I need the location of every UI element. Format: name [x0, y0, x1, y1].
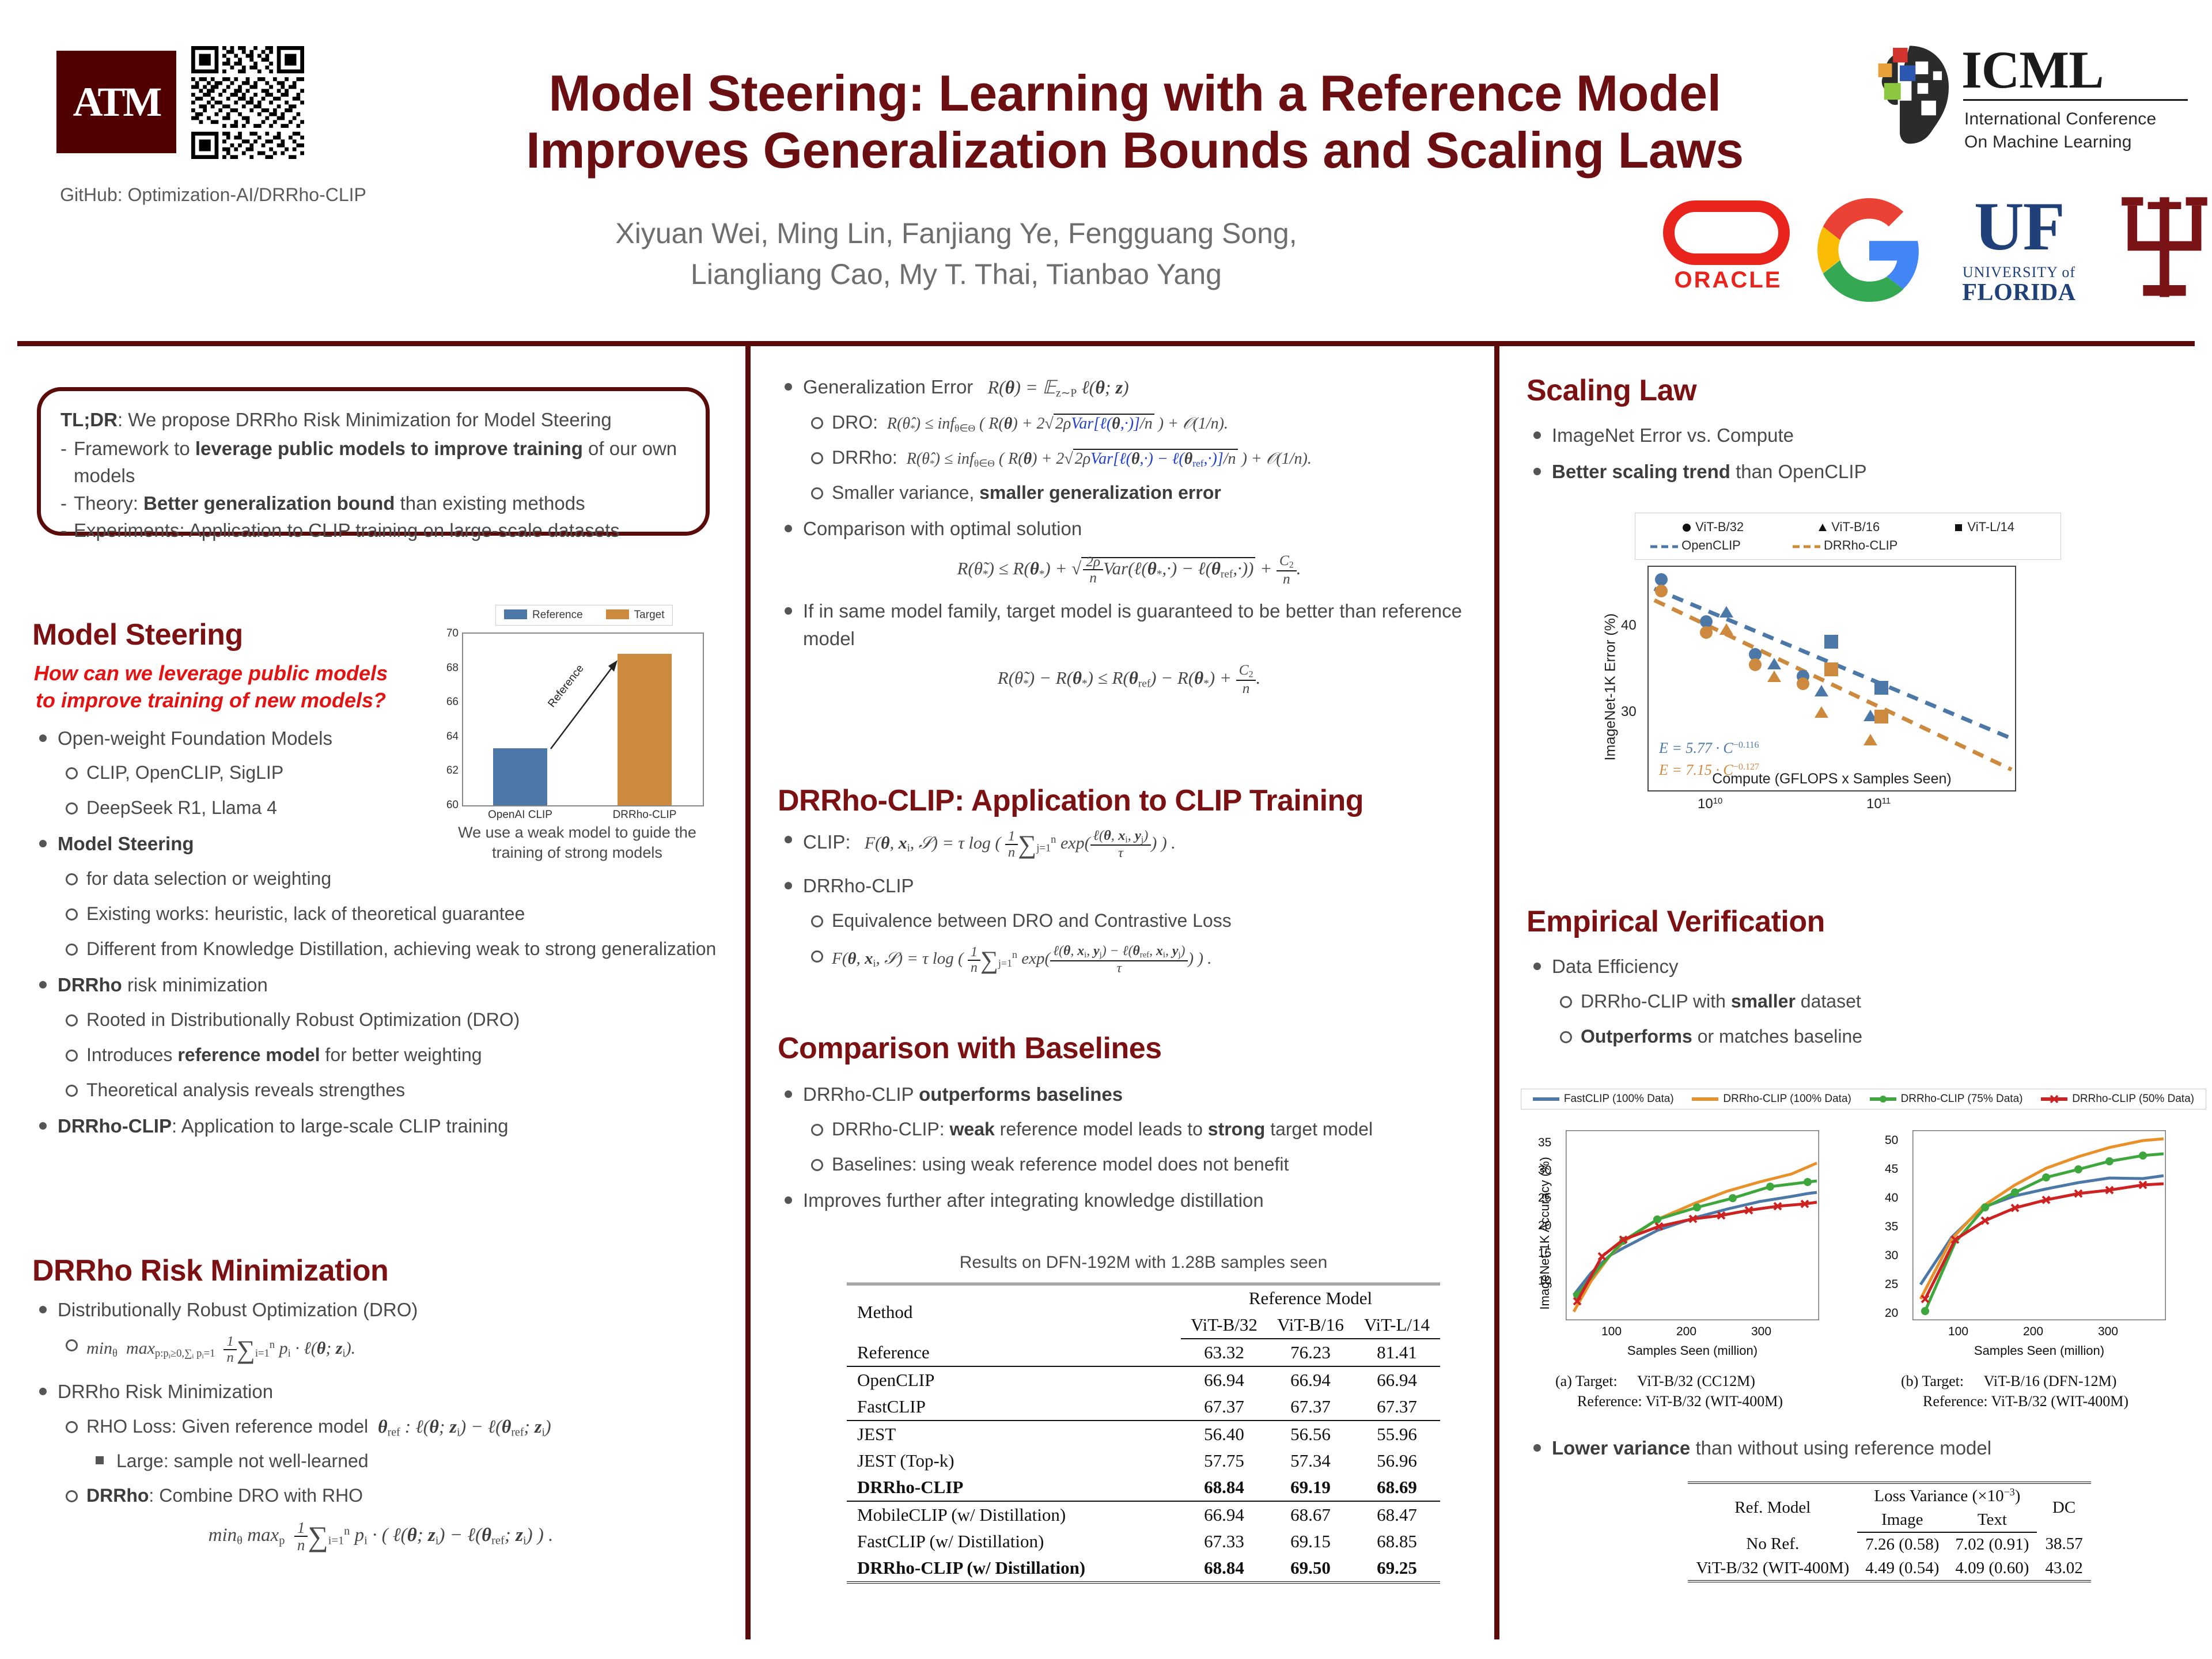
formula-dro-bound: R(θ̂*) ≤ infθ∈Θ ( R(θ) + 2√2ρVar[ℓ(θ,·)]…: [883, 415, 1228, 433]
empirical-b-ytick-40: 40: [1885, 1191, 1898, 1205]
cell-value: 68.47: [1354, 1501, 1440, 1528]
bullet-generalization-error: Generalization Error R(θ) = 𝔼z∼P ℓ(θ; z)…: [778, 373, 1480, 506]
y-tick-64: 64: [446, 730, 459, 743]
scaling-y-axis-label: ImageNet-1K Error (%): [1603, 613, 1619, 761]
tldr-item-text: Experiments: Application to CLIP trainin…: [74, 517, 620, 544]
cell-method: JEST: [847, 1421, 1181, 1448]
caption-a-target-value: ViT-B/32 (CC12M): [1621, 1373, 1755, 1389]
scaling-legend-lines-row: OpenCLIP DRRho-CLIP: [1645, 536, 2051, 555]
oracle-wordmark: ORACLE: [1650, 267, 1806, 293]
cell-text: 4.09 (0.60): [1947, 1556, 2037, 1581]
bullet-text: Distributionally Robust Optimization (DR…: [58, 1299, 418, 1320]
caption-a-reference-value: ViT-B/32 (WIT-400M): [1646, 1393, 1783, 1410]
cell-value: 81.41: [1354, 1339, 1440, 1366]
generalization-bullets-2: If in same model family, target model is…: [778, 597, 1480, 653]
authors-line-2: Liangliang Cao, My T. Thai, Tianbao Yang: [438, 254, 1475, 295]
bullet-text: DRRho-CLIP: [803, 875, 914, 896]
empirical-b-ytick-50: 50: [1885, 1134, 1898, 1147]
sub-list: Equivalence between DRO and Contrastive …: [803, 907, 1480, 979]
cell-value: 69.50: [1267, 1555, 1354, 1582]
cell-ref-model: No Ref.: [1688, 1532, 1857, 1556]
table-row: OpenCLIP 66.94 66.94 66.94: [847, 1366, 1440, 1393]
section-heading-drrho-clip: DRRho-CLIP: Application to CLIP Training: [778, 783, 1480, 818]
empirical-b-ytick-20: 20: [1885, 1306, 1898, 1320]
bar-openai-clip: [493, 748, 547, 805]
legend-label-vit-l14: ViT-L/14: [1967, 520, 2014, 534]
y-tick-40: 40: [1621, 618, 1637, 634]
table-row: FastCLIP 67.37 67.37 67.37: [847, 1393, 1440, 1421]
header-dc: DC: [2037, 1483, 2090, 1532]
sub-bullet-bold: DRRho: [86, 1485, 149, 1506]
variance-row: ViT-B/32 (WIT-400M) 4.49 (0.54) 4.09 (0.…: [1688, 1556, 2090, 1581]
empirical-a-ytick-10: 10: [1538, 1274, 1551, 1288]
legend-item-target: Target: [606, 609, 665, 622]
cell-value: 68.67: [1267, 1501, 1354, 1528]
sub-pre: DRRho-CLIP with: [1581, 991, 1731, 1012]
cell-method: Reference: [847, 1339, 1181, 1366]
cell-value: 57.34: [1267, 1448, 1354, 1474]
legend-label-drrho-clip: DRRho-CLIP: [1824, 538, 1897, 552]
tldr-item-post: than existing methods: [395, 493, 585, 514]
bullet-text: DRRho Risk Minimization: [58, 1381, 273, 1402]
x-tick-1e11: 1011: [1866, 796, 1891, 812]
sub-bullet: Existing works: heuristic, lack of theor…: [58, 900, 718, 927]
header-image: Image: [1857, 1508, 1947, 1532]
header-vit-l14: ViT-L/14: [1354, 1312, 1440, 1339]
title-line-2: Improves Generalization Bounds and Scali…: [403, 122, 1866, 179]
sub-mid: reference model leads to: [995, 1119, 1208, 1139]
bullet-same-model-family: If in same model family, target model is…: [778, 597, 1480, 653]
line-circle-icon-drrho-75: [1870, 1095, 1896, 1103]
legend-item-reference: Reference: [504, 609, 583, 622]
bullet-drrho-clip: DRRho-CLIP Equivalence between DRO and C…: [778, 872, 1480, 979]
bullet-drrho-risk-min: DRRho risk minimization Rooted in Distri…: [32, 971, 718, 1104]
variance-header-row-1: Ref. Model Loss Variance (×10−3) DC: [1688, 1483, 2090, 1508]
x-label-drrho-clip: DRRho-CLIP: [587, 809, 702, 821]
sub-bullet-baselines: Baselines: using weak reference model do…: [803, 1150, 1480, 1178]
bullet-bold: Lower variance: [1552, 1437, 1690, 1459]
model-steering-bullets-2: Model Steering for data selection or wei…: [32, 830, 718, 1140]
sponsor-logos: ORACLE UF UNIVERSITY of FLORIDA: [1645, 190, 2212, 305]
empirical-a-ytick-15: 15: [1538, 1247, 1551, 1260]
results-table-title: Results on DFN-192M with 1.28B samples s…: [838, 1253, 1449, 1272]
line-x-icon-drrho-50: [2041, 1095, 2067, 1103]
header-loss-variance-end: ): [2015, 1487, 2021, 1505]
sub-bold-strong: strong: [1208, 1119, 1266, 1139]
table-header-row-1: Method Reference Model: [847, 1284, 1440, 1312]
icml-logo: ICML International Conference On Machine…: [1861, 39, 2206, 166]
drrho-risk-section: DRRho Risk Minimization Distributionally…: [32, 1253, 729, 1564]
legend-item-drrho-100: DRRho-CLIP (100% Data): [1692, 1093, 1851, 1105]
model-steering-bar-chart: Reference Target 60 62 64 66 68 70 OpenA…: [427, 605, 715, 847]
sub-bullet: Introduces reference model for better we…: [58, 1041, 718, 1069]
empirical-a-caption: (a) Target: ViT-B/32 (CC12M) Reference: …: [1555, 1371, 1855, 1411]
cell-method: OpenCLIP: [847, 1366, 1181, 1393]
cell-value: 68.69: [1354, 1474, 1440, 1501]
bullet-knowledge-distillation: Improves further after integrating knowl…: [778, 1187, 1480, 1214]
sub-bullet: DeepSeek R1, Llama 4: [58, 794, 412, 821]
icml-divider: [1963, 99, 2188, 101]
cell-value: 76.23: [1267, 1339, 1354, 1366]
legend-item-vit-b16: ViT-B/16: [1817, 520, 1880, 535]
bullet-clip-loss: CLIP: F(θ, xi, 𝒮) = τ log ( 1n∑j=1n exp(…: [778, 826, 1480, 863]
sub-bullet-pre: Smaller variance,: [832, 482, 979, 503]
line-icon-fastclip: [1533, 1097, 1559, 1101]
cell-value: 68.84: [1181, 1555, 1267, 1582]
empirical-a-ytick-35: 35: [1538, 1136, 1551, 1150]
lower-variance-block: Lower variance than without using refere…: [1527, 1434, 2195, 1471]
sub-bullet: CLIP, OpenCLIP, SigLIP: [58, 759, 412, 786]
drrho-clip-bullets: CLIP: F(θ, xi, 𝒮) = τ log ( 1n∑j=1n exp(…: [778, 826, 1480, 979]
bullet-dro: Distributionally Robust Optimization (DR…: [32, 1296, 729, 1369]
table-row: Reference 63.32 76.23 81.41: [847, 1339, 1440, 1366]
empirical-plot-a: [1566, 1130, 1819, 1320]
sub-bullet: Rooted in Distributionally Robust Optimi…: [58, 1006, 718, 1033]
bullet-text: Open-weight Foundation Models: [58, 728, 332, 749]
cell-value: 68.84: [1181, 1474, 1267, 1501]
sub-post: target model: [1265, 1119, 1373, 1139]
table-row-highlight: DRRho-CLIP 68.84 69.19 68.69: [847, 1474, 1440, 1501]
legend-swatch-reference: [504, 609, 527, 619]
sub-bullet-smaller-variance: Smaller variance, smaller generalization…: [803, 479, 1480, 506]
bullet-text: : Application to large-scale CLIP traini…: [172, 1115, 509, 1137]
tldr-lead: TL;DR: We propose DRRho Risk Minimizatio…: [60, 406, 686, 434]
sub-bullet-equivalence: Equivalence between DRO and Contrastive …: [803, 907, 1480, 934]
cell-value: 57.75: [1181, 1448, 1267, 1474]
cell-value: 56.96: [1354, 1448, 1440, 1474]
section-heading-drrho-risk: DRRho Risk Minimization: [32, 1253, 729, 1288]
empirical-legend: FastCLIP (100% Data) DRRho-CLIP (100% Da…: [1521, 1089, 2206, 1109]
results-table-block: Results on DFN-192M with 1.28B samples s…: [838, 1253, 1449, 1584]
y-tick-68: 68: [446, 662, 459, 675]
cell-method: FastCLIP (w/ Distillation): [847, 1528, 1181, 1555]
tldr-lead-rest: : We propose DRRho Risk Minimization for…: [118, 409, 612, 430]
bullet-outperforms: DRRho-CLIP outperforms baselines DRRho-C…: [778, 1081, 1480, 1178]
bar-drrho-clip: [618, 654, 672, 805]
formula-rho-loss: θref : ℓ(θ; zi) − ℓ(θref; zi): [373, 1416, 551, 1437]
empirical-verification-section: Empirical Verification Data Efficiency D…: [1527, 904, 2195, 1059]
empirical-plot-b: [1912, 1130, 2166, 1320]
cell-value: 69.15: [1267, 1528, 1354, 1555]
comparison-bullets: DRRho-CLIP outperforms baselines DRRho-C…: [778, 1081, 1480, 1214]
table-row-highlight: DRRho-CLIP (w/ Distillation) 68.84 69.50…: [847, 1555, 1440, 1582]
legend-item-vit-l14: ViT-L/14: [1953, 520, 2014, 535]
sub-bullet-weak-to-strong: DRRho-CLIP: weak reference model leads t…: [803, 1115, 1480, 1143]
cell-value: 68.85: [1354, 1528, 1440, 1555]
sub-bold-weak: weak: [950, 1119, 995, 1139]
tamu-logo-text: ATM: [73, 81, 160, 123]
sub-bullet-drrho-combine: DRRho: Combine DRO with RHO: [58, 1482, 729, 1509]
empirical-b-xtick-100: 100: [1948, 1325, 1968, 1339]
sub-bullet-dro-bound: DRO: R(θ̂*) ≤ infθ∈Θ ( R(θ) + 2√2ρVar[ℓ(…: [803, 408, 1480, 436]
caption-a-target-label: (a) Target:: [1555, 1373, 1618, 1389]
empirical-bullets: Data Efficiency DRRho-CLIP with smaller …: [1527, 953, 2195, 1050]
bullet-bold: Better scaling trend: [1552, 461, 1730, 482]
variance-row: No Ref. 7.26 (0.58) 7.02 (0.91) 38.57: [1688, 1532, 2090, 1556]
caption-a-reference-label: Reference:: [1555, 1393, 1642, 1410]
tldr-item-pre: Framework to: [74, 438, 195, 459]
cell-method: FastCLIP: [847, 1393, 1181, 1421]
icml-brain-icon: [1861, 41, 1959, 145]
sub-bullet-bold: reference model: [177, 1044, 320, 1065]
header-loss-variance-exp: −3: [2004, 1486, 2015, 1498]
poster-header: ATM: [0, 0, 2212, 341]
table-bottom-rule: [847, 1582, 1440, 1584]
empirical-a-xtick-200: 200: [1676, 1325, 1696, 1339]
icml-subtitle-2: On Machine Learning: [1964, 132, 2132, 152]
sub-bullet-bold: smaller generalization error: [979, 482, 1221, 503]
legend-label-vit-b32: ViT-B/32: [1695, 520, 1744, 534]
icml-wordmark: ICML: [1961, 39, 2103, 100]
cell-value: 69.19: [1267, 1474, 1354, 1501]
sub-bullet: Different from Knowledge Distillation, a…: [58, 935, 718, 963]
model-steering-question: How can we leverage public models to imp…: [32, 660, 389, 714]
cell-value: 66.94: [1354, 1366, 1440, 1393]
legend-item-drrho-50: DRRho-CLIP (50% Data): [2041, 1093, 2194, 1105]
section-heading-comparison: Comparison with Baselines: [778, 1031, 1480, 1066]
cell-method: JEST (Top-k): [847, 1448, 1181, 1474]
sub-bullet-smaller-dataset: DRRho-CLIP with smaller dataset: [1552, 987, 2195, 1015]
table-row: JEST (Top-k) 57.75 57.34 56.96: [847, 1448, 1440, 1474]
bullet-rest: than OpenCLIP: [1730, 461, 1867, 482]
bullet-drrho-clip: DRRho-CLIP: Application to large-scale C…: [32, 1112, 718, 1140]
scaling-plot-area: 40 30 E = 5.77 · C−0.116 E = 7.15 · C−0.…: [1647, 566, 2016, 791]
legend-item-openclip: OpenCLIP: [1650, 538, 1741, 553]
square-marker-icon: [1953, 522, 1964, 533]
cell-method: MobileCLIP (w/ Distillation): [847, 1501, 1181, 1528]
github-link-caption: GitHub: Optimization-AI/DRRho-CLIP: [17, 184, 409, 206]
formula-drrho-bound: R(θ̂*) ≤ infθ∈Θ ( R(θ) + 2√2ρVar[ℓ(θ,·) …: [903, 450, 1312, 468]
formula-dro: minθ maxp:pi≥0,∑i pi=1 1n∑i=1n pi · ℓ(θ;…: [86, 1339, 355, 1358]
sub-sub-bullet: Large: sample not well-learned: [86, 1448, 729, 1474]
legend-swatch-target: [606, 609, 629, 619]
legend-label-fastclip-100: FastCLIP (100% Data): [1564, 1093, 1674, 1105]
authors-line-1: Xiyuan Wei, Ming Lin, Fanjiang Ye, Fengg…: [438, 213, 1475, 254]
cell-dc: 43.02: [2037, 1556, 2090, 1581]
table-row: JEST 56.40 56.56 55.96: [847, 1421, 1440, 1448]
bullet-text-bold: Model Steering: [58, 833, 194, 854]
caption-b-target-value: ViT-B/16 (DFN-12M): [1968, 1373, 2117, 1389]
legend-item-drrho-clip: DRRho-CLIP: [1793, 538, 1898, 553]
tldr-item-bold: Better generalization bound: [143, 493, 395, 514]
sub-list: RHO Loss: Given reference model θref : ℓ…: [58, 1412, 729, 1509]
triangle-marker-icon: [1817, 522, 1828, 533]
header-ref-model: Ref. Model: [1688, 1483, 1857, 1532]
sub-bullet-drrho-bound: DRRho: R(θ̂*) ≤ infθ∈Θ ( R(θ) + 2√2ρVar[…: [803, 444, 1480, 471]
sub-bullet: Theoretical analysis reveals strengthes: [58, 1076, 718, 1104]
icml-subtitle-1: International Conference: [1964, 109, 2156, 129]
bullet-lower-variance: Lower variance than without using refere…: [1527, 1434, 2195, 1462]
scaling-law-section: Scaling Law ImageNet Error vs. Compute B…: [1527, 373, 2195, 494]
empirical-a-xtick-300: 300: [1751, 1325, 1771, 1339]
section-heading-empirical: Empirical Verification: [1527, 904, 2195, 939]
bullet-text: Comparison with optimal solution: [803, 518, 1082, 539]
header-loss-variance-text: Loss Variance (×10: [1874, 1487, 2003, 1505]
scaling-legend: ViT-B/32 ViT-B/16 ViT-L/14 OpenCLIP: [1635, 513, 2061, 560]
legend-label-openclip: OpenCLIP: [1681, 538, 1741, 552]
bullet-data-efficiency: Data Efficiency DRRho-CLIP with smaller …: [1527, 953, 2195, 1050]
header-divider: [17, 341, 2195, 346]
cell-value: 55.96: [1354, 1421, 1440, 1448]
cell-value: 66.94: [1181, 1366, 1267, 1393]
y-tick-62: 62: [446, 764, 459, 777]
column-divider-2: [1494, 343, 1499, 1639]
cell-image: 4.49 (0.54): [1857, 1556, 1947, 1581]
results-table: Method Reference Model ViT-B/32 ViT-B/16…: [847, 1283, 1440, 1584]
column-divider-1: [745, 343, 751, 1639]
sub-list: DRRho-CLIP with smaller dataset Outperfo…: [1552, 987, 2195, 1050]
header-vit-b32: ViT-B/32: [1181, 1312, 1267, 1339]
legend-label-vit-b16: ViT-B/16: [1831, 520, 1880, 534]
sub-bullet-rest: : Combine DRO with RHO: [149, 1485, 363, 1506]
oracle-oval-icon: [1663, 200, 1790, 265]
line-icon-drrho-100: [1692, 1097, 1718, 1101]
empirical-b-xtick-200: 200: [2023, 1325, 2043, 1339]
empirical-b-ytick-45: 45: [1885, 1162, 1898, 1176]
caption-b-target-label: (b) Target:: [1901, 1373, 1964, 1389]
legend-item-vit-b32: ViT-B/32: [1681, 520, 1744, 535]
sub-list: DRRho-CLIP: weak reference model leads t…: [803, 1115, 1480, 1178]
table-row: FastCLIP (w/ Distillation) 67.33 69.15 6…: [847, 1528, 1440, 1555]
scaling-annotation-openclip: E = 5.77 · C−0.116: [1659, 740, 1759, 757]
empirical-b-caption: (b) Target: ViT-B/16 (DFN-12M) Reference…: [1901, 1371, 2200, 1411]
tldr-item-text: Framework to leverage public models to i…: [74, 435, 686, 490]
sub-list: for data selection or weighting Existing…: [58, 865, 718, 963]
sub-bullet-post: for better weighting: [320, 1044, 482, 1065]
formula-drrho-objective: minθ maxp 1n∑i=1n pi · ( ℓ(θ; zi) − ℓ(θr…: [32, 1520, 729, 1554]
y-tick-70: 70: [446, 627, 459, 640]
texas-am-logo: ATM: [56, 51, 176, 153]
cell-dc: 38.57: [2037, 1532, 2090, 1556]
cell-value: 56.56: [1267, 1421, 1354, 1448]
tldr-item: -Experiments: Application to CLIP traini…: [60, 517, 686, 544]
table-row: MobileCLIP (w/ Distillation) 66.94 68.67…: [847, 1501, 1440, 1528]
uf-monogram: UF: [1944, 194, 2094, 259]
empirical-b-x-label: Samples Seen (million): [1912, 1343, 2166, 1358]
lower-variance-bullets: Lower variance than without using refere…: [1527, 1434, 2195, 1462]
bullet-rest: than without using reference model: [1690, 1437, 1991, 1459]
circle-marker-icon: [1681, 522, 1692, 533]
formula-optimal-comparison: R(θ̃*) ≤ R(θ*) + √2ρnVar(ℓ(θ*,·) − ℓ(θre…: [778, 553, 1480, 587]
variance-table: Ref. Model Loss Variance (×10−3) DC Imag…: [1688, 1482, 2090, 1582]
bullet-text: Data Efficiency: [1552, 956, 1679, 977]
y-tick-30: 30: [1621, 704, 1637, 720]
sub-list: CLIP, OpenCLIP, SigLIP DeepSeek R1, Llam…: [58, 759, 412, 821]
legend-label-target: Target: [634, 609, 665, 621]
tldr-item-bold: leverage public models to improve traini…: [195, 438, 583, 459]
cell-value: 67.37: [1354, 1393, 1440, 1421]
empirical-a-ytick-20: 20: [1538, 1219, 1551, 1233]
dashed-line-icon-openclip: [1650, 544, 1678, 550]
bullet-text-bold: DRRho: [58, 974, 122, 995]
formula-clip: F(θ, xi, 𝒮) = τ log ( 1n∑j=1n exp(ℓ(θ, x…: [856, 834, 1176, 853]
bullet-imagenet-error-vs-compute: ImageNet Error vs. Compute: [1527, 422, 2195, 449]
empirical-charts: FastCLIP (100% Data) DRRho-CLIP (100% Da…: [1521, 1089, 2206, 1446]
cell-ref-model: ViT-B/32 (WIT-400M): [1688, 1556, 1857, 1581]
cell-value: 63.32: [1181, 1339, 1267, 1366]
empirical-b-ytick-25: 25: [1885, 1278, 1898, 1291]
bar-chart-caption: We use a weak model to guide the trainin…: [450, 823, 704, 863]
sub-list: Rooted in Distributionally Robust Optimi…: [58, 1006, 718, 1104]
sub-list: minθ maxp:pi≥0,∑i pi=1 1n∑i=1n pi · ℓ(θ;…: [58, 1331, 729, 1370]
cell-method: DRRho-CLIP (w/ Distillation): [847, 1555, 1181, 1582]
dash-icon: -: [60, 490, 67, 517]
legend-label-drrho-50: DRRho-CLIP (50% Data): [2072, 1093, 2194, 1105]
cell-image: 7.26 (0.58): [1857, 1532, 1947, 1556]
qr-code-icon[interactable]: [190, 46, 305, 159]
page-title: Model Steering: Learning with a Referenc…: [403, 65, 1866, 179]
variance-bottom-rule: [1688, 1581, 2090, 1582]
middle-column: Generalization Error R(θ) = 𝔼z∼P ℓ(θ; z)…: [778, 373, 1480, 707]
legend-item-drrho-75: DRRho-CLIP (75% Data): [1870, 1093, 2023, 1105]
bullet-better-scaling-trend: Better scaling trend than OpenCLIP: [1527, 458, 2195, 486]
tldr-item-text: Theory: Better generalization bound than…: [74, 490, 585, 517]
formula-generalization-error: R(θ) = 𝔼z∼P ℓ(θ; z): [978, 377, 1128, 397]
drrho-clip-section: DRRho-CLIP: Application to CLIP Training…: [778, 783, 1480, 988]
header-vit-b16: ViT-B/16: [1267, 1312, 1354, 1339]
header-loss-variance: Loss Variance (×10−3): [1857, 1483, 2037, 1508]
tldr-item: -Theory: Better generalization bound tha…: [60, 490, 686, 517]
bullet-drrho-risk-minimization: DRRho Risk Minimization RHO Loss: Given …: [32, 1378, 729, 1509]
bar-chart-legend: Reference Target: [495, 605, 673, 626]
bullet-text: Generalization Error: [803, 376, 973, 397]
header-text: Text: [1947, 1508, 2037, 1532]
header-reference-model-group: Reference Model: [1181, 1284, 1440, 1312]
tldr-box: TL;DR: We propose DRRho Risk Minimizatio…: [37, 387, 710, 536]
indiana-university-logo-icon: [2117, 192, 2212, 302]
tldr-lead-bold: TL;DR: [60, 409, 118, 430]
sub-bullet: for data selection or weighting: [58, 865, 718, 892]
university-of-florida-logo: UF UNIVERSITY of FLORIDA: [1944, 194, 2094, 303]
scaling-law-bullets: ImageNet Error vs. Compute Better scalin…: [1527, 422, 2195, 486]
dash-icon: -: [60, 435, 67, 490]
bullet-text-bold: DRRho-CLIP: [58, 1115, 172, 1137]
bullet-label: CLIP:: [803, 831, 851, 853]
oracle-logo: ORACLE: [1645, 200, 1812, 296]
scaling-law-chart: ViT-B/32 ViT-B/16 ViT-L/14 OpenCLIP: [1555, 513, 2177, 858]
legend-label-reference: Reference: [532, 609, 583, 621]
sub-bullet-pre: Introduces: [86, 1044, 177, 1065]
sub-list: DRO: R(θ̂*) ≤ infθ∈Θ ( R(θ) + 2√2ρVar[ℓ(…: [803, 408, 1480, 506]
cell-value: 67.37: [1181, 1393, 1267, 1421]
caption-b-reference-value: ViT-B/32 (WIT-400M): [1991, 1393, 2128, 1410]
bullet-comparison-optimal: Comparison with optimal solution: [778, 515, 1480, 543]
cell-value: 67.33: [1181, 1528, 1267, 1555]
drrho-risk-bullets: Distributionally Robust Optimization (DR…: [32, 1296, 729, 1509]
sub-post: dataset: [1796, 991, 1861, 1012]
dashed-line-icon-drrho: [1793, 544, 1820, 550]
formula-target-vs-reference: R(θ̃*) − R(θ*) ≤ R(θref) − R(θ*) + C2n.: [778, 662, 1480, 696]
cell-value: 66.94: [1267, 1366, 1354, 1393]
sub-pre: DRRho-CLIP:: [832, 1119, 950, 1139]
cell-text: 7.02 (0.91): [1947, 1532, 2037, 1556]
tldr-item-pre: Theory:: [74, 493, 143, 514]
caption-b-reference-label: Reference:: [1901, 1393, 1988, 1410]
cell-value: 67.37: [1267, 1393, 1354, 1421]
scaling-legend-markers-row: ViT-B/32 ViT-B/16 ViT-L/14: [1645, 518, 2051, 536]
sub-bullet-label: DRRho:: [832, 447, 897, 468]
sub-sub-list: Large: sample not well-learned: [86, 1448, 729, 1474]
sub-bullet-drrho-clip-formula: F(θ, xi, 𝒮) = τ log ( 1n∑j=1n exp(ℓ(θ, x…: [803, 942, 1480, 979]
sub-bullet-text: RHO Loss: Given reference model: [86, 1416, 368, 1437]
cell-value: 69.25: [1354, 1555, 1440, 1582]
scaling-x-axis-label: Compute (GFLOPS x Samples Seen): [1647, 771, 2016, 787]
sub-bullet-rho-loss: RHO Loss: Given reference model θref : ℓ…: [58, 1412, 729, 1474]
sub-post: or matches baseline: [1692, 1026, 1862, 1047]
formula-drrho-clip: F(θ, xi, 𝒮) = τ log ( 1n∑j=1n exp(ℓ(θ, x…: [832, 949, 1212, 968]
title-line-1: Model Steering: Learning with a Referenc…: [403, 65, 1866, 122]
empirical-a-x-label: Samples Seen (million): [1566, 1343, 1819, 1358]
